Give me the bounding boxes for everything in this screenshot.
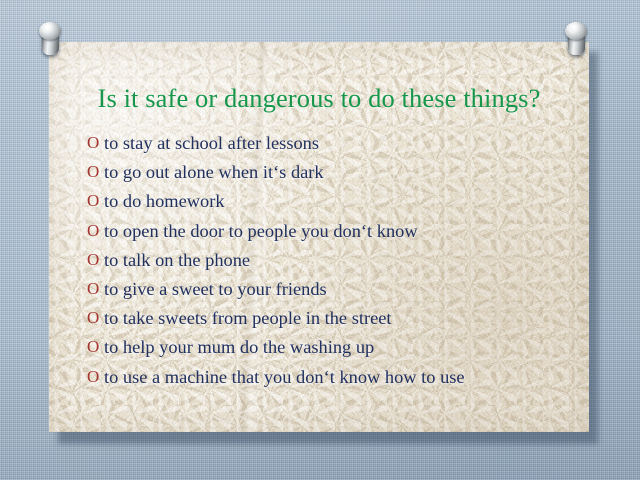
list-item: O to open the door to people you don‘t k… xyxy=(87,222,587,251)
circle-bullet-icon: O xyxy=(87,309,104,326)
circle-bullet-icon: O xyxy=(87,222,104,239)
list-item: O to stay at school after lessons xyxy=(87,134,587,163)
circle-bullet-icon: O xyxy=(87,280,104,297)
list-item-label: to give a sweet to your friends xyxy=(104,280,327,298)
list-item-label: to use a machine that you don‘t know how… xyxy=(104,368,465,386)
list-item-label: to do homework xyxy=(104,192,225,210)
list-item-label: to help your mum do the washing up xyxy=(104,338,374,356)
list-item-label: to stay at school after lessons xyxy=(104,134,319,152)
pushpin-highlight xyxy=(44,24,52,30)
list-item: O to talk on the phone xyxy=(87,251,587,280)
bullet-list: O to stay at school after lessons O to g… xyxy=(87,134,587,397)
list-item-label: to talk on the phone xyxy=(104,251,250,269)
list-item: O to go out alone when it‘s dark xyxy=(87,163,587,192)
list-item-label: to open the door to people you don‘t kno… xyxy=(104,222,418,240)
list-item-label: to go out alone when it‘s dark xyxy=(104,163,324,181)
slide-title: Is it safe or dangerous to do these thin… xyxy=(49,84,589,113)
circle-bullet-icon: O xyxy=(87,338,104,355)
list-item: O to do homework xyxy=(87,192,587,221)
circle-bullet-icon: O xyxy=(87,163,104,180)
circle-bullet-icon: O xyxy=(87,134,104,151)
list-item-label: to take sweets from people in the street xyxy=(104,309,392,327)
list-item: O to give a sweet to your friends xyxy=(87,280,587,309)
circle-bullet-icon: O xyxy=(87,368,104,385)
pushpin-highlight xyxy=(570,24,578,30)
circle-bullet-icon: O xyxy=(87,251,104,268)
slide-content: Is it safe or dangerous to do these thin… xyxy=(49,42,589,432)
circle-bullet-icon: O xyxy=(87,192,104,209)
list-item: O to take sweets from people in the stre… xyxy=(87,309,587,338)
list-item: O to help your mum do the washing up xyxy=(87,338,587,367)
list-item: O to use a machine that you don‘t know h… xyxy=(87,368,587,397)
